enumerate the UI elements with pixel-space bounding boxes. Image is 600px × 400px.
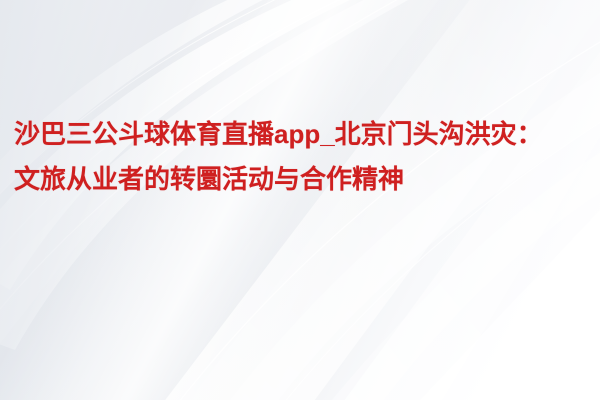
banner-title-line-2: 文旅从业者的转圜活动与合作精神 — [14, 157, 592, 202]
banner-card: 沙巴三公斗球体育直播app_北京门头沟洪灾： 文旅从业者的转圜活动与合作精神 — [0, 0, 600, 400]
banner-title: 沙巴三公斗球体育直播app_北京门头沟洪灾： 文旅从业者的转圜活动与合作精神 — [14, 112, 592, 202]
banner-title-line-1: 沙巴三公斗球体育直播app_北京门头沟洪灾： — [14, 112, 592, 157]
